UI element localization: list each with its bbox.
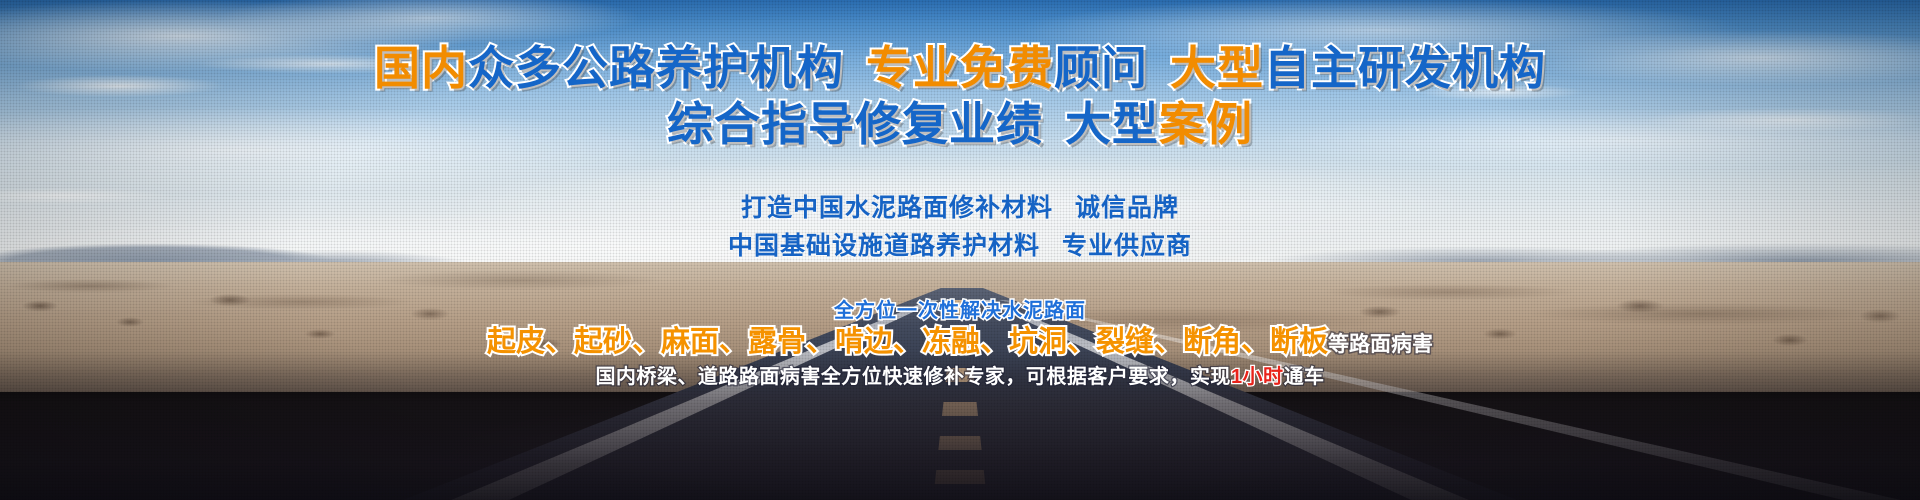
headline2-seg-1: 大型 (1065, 98, 1159, 150)
subtitle2-primary: 中国基础设施道路养护材料 (728, 232, 1040, 260)
banner-content: 国内众多公路养护机构专业免费顾问大型自主研发机构 综合指导修复业绩大型案例 打造… (0, 0, 1920, 500)
bottom-disease-list: 起皮、起砂、麻面、露骨、啃边、冻融、坑洞、裂缝、断角、断板等路面病害 (0, 318, 1920, 360)
headline1-seg-1: 众多公路养护机构 (468, 42, 844, 94)
claim-part-1: 国内桥梁、道路路面病害全方位快速修补专家，可根据客户要求，实现 (595, 366, 1231, 388)
headline-line-2: 综合指导修复业绩大型案例 (0, 98, 1920, 150)
subtitle2-secondary: 专业供应商 (1062, 232, 1192, 260)
claim-part-2: 通车 (1284, 366, 1325, 388)
disease-names: 起皮、起砂、麻面、露骨、啃边、冻融、坑洞、裂缝、断角、断板 (487, 326, 1328, 358)
claim-highlight-duration: 1小时 (1231, 366, 1284, 388)
headline1-seg-4: 顾问 (1054, 42, 1148, 94)
headline-line-1: 国内众多公路养护机构专业免费顾问大型自主研发机构 (0, 42, 1920, 94)
promo-banner: 国内众多公路养护机构专业免费顾问大型自主研发机构 综合指导修复业绩大型案例 打造… (0, 0, 1920, 500)
subtitle-line-2: 中国基础设施道路养护材料专业供应商 (0, 226, 1920, 262)
headline2-seg-2: 案例 (1159, 98, 1253, 150)
headline1-seg-6: 自主研发机构 (1264, 42, 1546, 94)
subtitle-line-1: 打造中国水泥路面修补材料诚信品牌 (0, 188, 1920, 224)
headline1-seg-5: 大型 (1170, 42, 1264, 94)
bottom-claim: 国内桥梁、道路路面病害全方位快速修补专家，可根据客户要求，实现1小时通车 (0, 360, 1920, 389)
headline1-seg-3: 免费 (960, 42, 1054, 94)
headline1-seg-2: 专业 (866, 42, 960, 94)
headline2-seg-0: 综合指导修复业绩 (667, 98, 1043, 150)
subtitle1-secondary: 诚信品牌 (1075, 194, 1179, 222)
subtitle1-primary: 打造中国水泥路面修补材料 (741, 194, 1053, 222)
headline1-seg-0: 国内 (374, 42, 468, 94)
disease-suffix: 等路面病害 (1328, 333, 1433, 356)
